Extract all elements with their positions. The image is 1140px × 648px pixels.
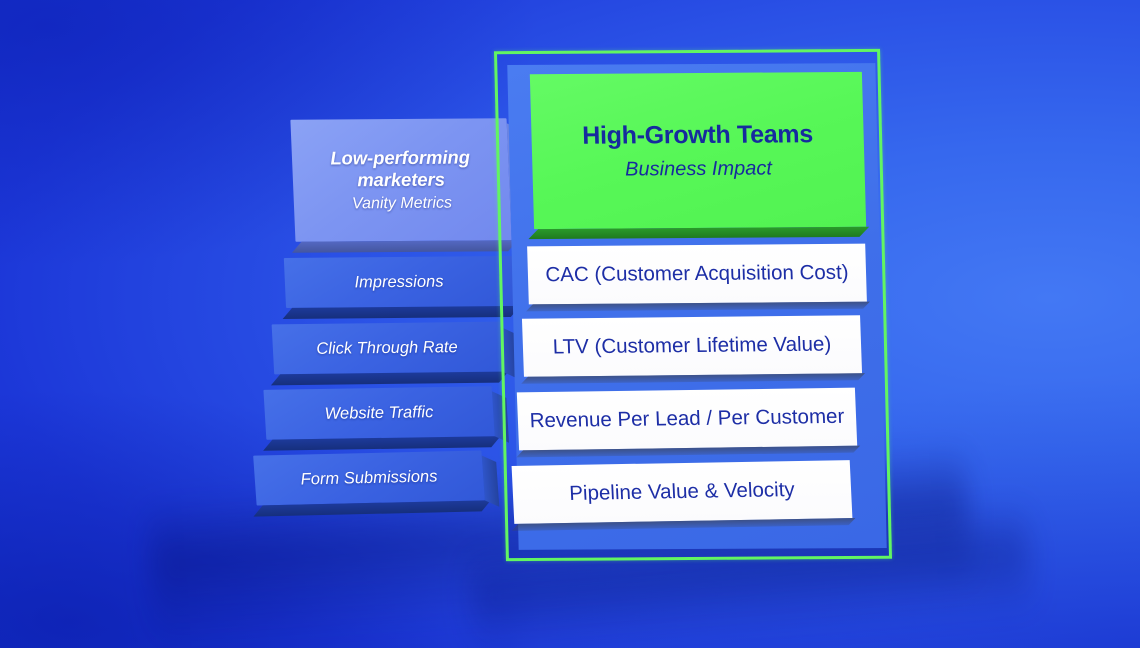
- vanity-metric-bar-form-submissions[interactable]: Form Submissions: [253, 450, 485, 505]
- high-growth-panel: High-Growth Teams Business Impact CAC (C…: [492, 42, 902, 572]
- low-performing-title: Low-performing marketers: [306, 146, 496, 191]
- low-performing-subtitle: Vanity Metrics: [352, 195, 453, 214]
- impact-metric-card-ltv[interactable]: LTV (Customer Lifetime Value): [522, 315, 862, 377]
- low-performing-stack: Low-performing marketers Vanity Metrics …: [245, 105, 515, 525]
- impact-metric-label: Revenue Per Lead / Per Customer: [529, 405, 845, 433]
- high-growth-title: High-Growth Teams: [582, 120, 813, 150]
- impact-metric-label: LTV (Customer Lifetime Value): [552, 333, 831, 360]
- vanity-metric-label: Form Submissions: [300, 467, 438, 489]
- high-growth-subtitle: Business Impact: [625, 157, 772, 181]
- slide-canvas: Low-performing marketers Vanity Metrics …: [0, 0, 1140, 648]
- vanity-metric-label: Click Through Rate: [316, 338, 458, 359]
- vanity-metric-label: Website Traffic: [324, 403, 434, 424]
- high-growth-header-card: High-Growth Teams Business Impact: [530, 72, 866, 229]
- impact-metric-card-pipeline-value[interactable]: Pipeline Value & Velocity: [512, 460, 853, 524]
- impact-metric-card-cac[interactable]: CAC (Customer Acquisition Cost): [527, 244, 867, 305]
- vanity-metric-bar-click-through-rate[interactable]: Click Through Rate: [272, 322, 503, 375]
- impact-metric-label: CAC (Customer Acquisition Cost): [545, 261, 849, 287]
- impact-metric-label: Pipeline Value & Velocity: [569, 478, 795, 506]
- vanity-metric-bar-website-traffic[interactable]: Website Traffic: [263, 386, 494, 439]
- impact-metric-card-revenue-per-lead[interactable]: Revenue Per Lead / Per Customer: [517, 388, 857, 451]
- low-performing-header-bar: Low-performing marketers Vanity Metrics: [290, 118, 511, 241]
- vanity-metric-bar-impressions[interactable]: Impressions: [284, 256, 514, 308]
- vanity-metric-label: Impressions: [354, 272, 444, 292]
